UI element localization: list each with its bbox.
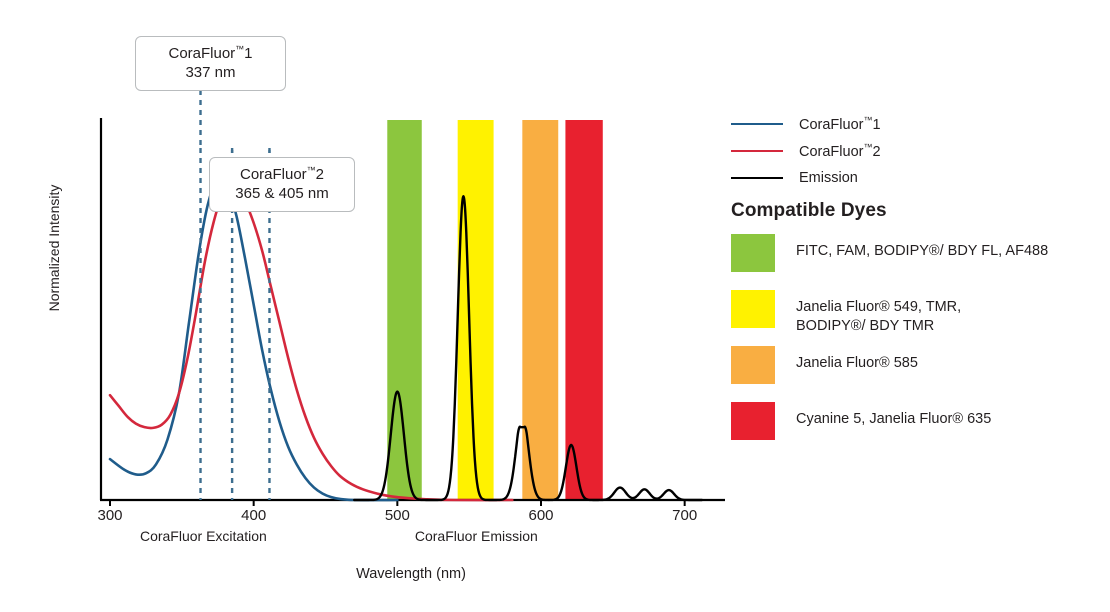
y-axis-label: Normalized Intensity: [46, 158, 62, 338]
trademark-symbol: ™: [235, 44, 244, 54]
x-tick-300: 300: [97, 507, 122, 524]
dye-color-swatch: [731, 290, 775, 328]
dye-item-1: FITC, FAM, BODIPY®/ BDY FL, AF488: [731, 234, 1101, 290]
x-tick-400: 400: [241, 507, 266, 524]
legend-item-3: Emission: [731, 164, 1091, 191]
emission-band-4: [565, 120, 602, 500]
emission-band-2: [458, 120, 494, 500]
legend-item-label: CoraFluor™2: [799, 142, 881, 160]
dye-item-3: Janelia Fluor® 585: [731, 346, 1101, 402]
legend-item-1: CoraFluor™1: [731, 110, 1091, 137]
legend-item-label: CoraFluor™1: [799, 115, 881, 133]
callout-corafluor-1: CoraFluor™1 337 nm: [135, 36, 286, 91]
dye-color-swatch: [731, 346, 775, 384]
dye-label: Janelia Fluor® 549, TMR,BODIPY®/ BDY TMR: [796, 290, 961, 337]
callout-2-line2: 365 & 405 nm: [222, 184, 342, 203]
spectra-plot: [0, 0, 760, 520]
compatible-dyes-list: FITC, FAM, BODIPY®/ BDY FL, AF488Janelia…: [731, 234, 1101, 458]
legend-item-2: CoraFluor™2: [731, 137, 1091, 164]
callout-corafluor-2: CoraFluor™2 365 & 405 nm: [209, 157, 355, 212]
x-tick-700: 700: [672, 507, 697, 524]
x-tick-500: 500: [385, 507, 410, 524]
emission-section-caption: CoraFluor Emission: [415, 528, 538, 544]
compatible-dyes-title: Compatible Dyes: [731, 200, 887, 222]
callout-1-line1: CoraFluor™1: [168, 45, 252, 62]
trademark-symbol: ™: [307, 165, 316, 175]
callout-1-line2: 337 nm: [148, 63, 273, 82]
dye-color-swatch: [731, 402, 775, 440]
legend-line-swatch: [731, 177, 783, 179]
chart-figure: CoraFluor™1 337 nm CoraFluor™2 365 & 405…: [0, 0, 1110, 612]
callout-2-line1: CoraFluor™2: [240, 166, 324, 183]
legend-line-swatch: [731, 150, 783, 152]
legend-line-swatch: [731, 123, 783, 125]
dye-label: Janelia Fluor® 585: [796, 346, 918, 373]
x-tick-600: 600: [528, 507, 553, 524]
dye-label: Cyanine 5, Janelia Fluor® 635: [796, 402, 991, 429]
dye-color-swatch: [731, 234, 775, 272]
dye-item-4: Cyanine 5, Janelia Fluor® 635: [731, 402, 1101, 458]
excitation-section-caption: CoraFluor Excitation: [140, 528, 267, 544]
dye-item-2: Janelia Fluor® 549, TMR,BODIPY®/ BDY TMR: [731, 290, 1101, 346]
legend-item-label: Emission: [799, 170, 858, 186]
x-axis-title: Wavelength (nm): [0, 566, 822, 582]
series-legend: CoraFluor™1CoraFluor™2Emission: [731, 110, 1091, 191]
dye-label: FITC, FAM, BODIPY®/ BDY FL, AF488: [796, 234, 1048, 261]
